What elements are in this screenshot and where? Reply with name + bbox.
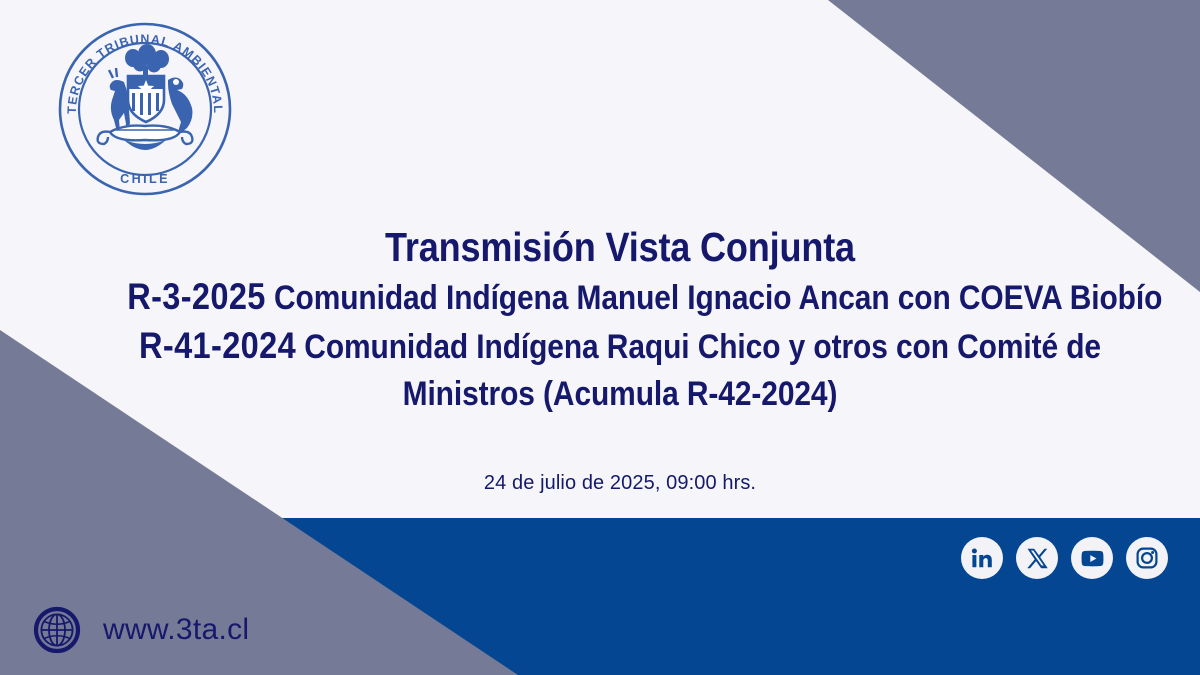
website-url[interactable]: www.3ta.cl: [103, 613, 249, 647]
case-2-id: R-41-2024: [139, 325, 296, 366]
social-links-row: [961, 537, 1168, 579]
case-line-1: R-3-2025 Comunidad Indígena Manuel Ignac…: [127, 273, 1113, 322]
globe-icon: [33, 606, 81, 654]
youtube-button[interactable]: [1071, 537, 1113, 579]
coat-of-arms: [98, 44, 193, 150]
website-row[interactable]: www.3ta.cl: [33, 606, 249, 654]
instagram-icon: [1135, 546, 1159, 570]
institution-logo: TERCER TRIBUNAL AMBIENTAL CHILE: [54, 20, 236, 198]
date-time-line: 24 de julio de 2025, 09:00 hrs.: [60, 472, 1180, 495]
broadcast-title: Transmisión Vista Conjunta: [127, 222, 1113, 273]
x-twitter-button[interactable]: [1016, 537, 1058, 579]
seal-bottom-text: CHILE: [120, 172, 170, 186]
linkedin-button[interactable]: [961, 537, 1003, 579]
headline-block: Transmisión Vista Conjunta R-3-2025 Comu…: [60, 222, 1180, 418]
x-twitter-icon: [1026, 547, 1049, 570]
case-2-text: Comunidad Indígena Raqui Chico y otros c…: [304, 328, 1101, 413]
youtube-icon: [1080, 546, 1105, 571]
instagram-button[interactable]: [1126, 537, 1168, 579]
broadcast-announcement-slide: TERCER TRIBUNAL AMBIENTAL CHILE: [0, 0, 1200, 675]
case-1-text: Comunidad Indígena Manuel Ignacio Ancan …: [274, 279, 1162, 317]
case-line-2: R-41-2024 Comunidad Indígena Raqui Chico…: [127, 322, 1113, 418]
case-1-id: R-3-2025: [127, 276, 266, 317]
linkedin-icon: [970, 546, 994, 570]
